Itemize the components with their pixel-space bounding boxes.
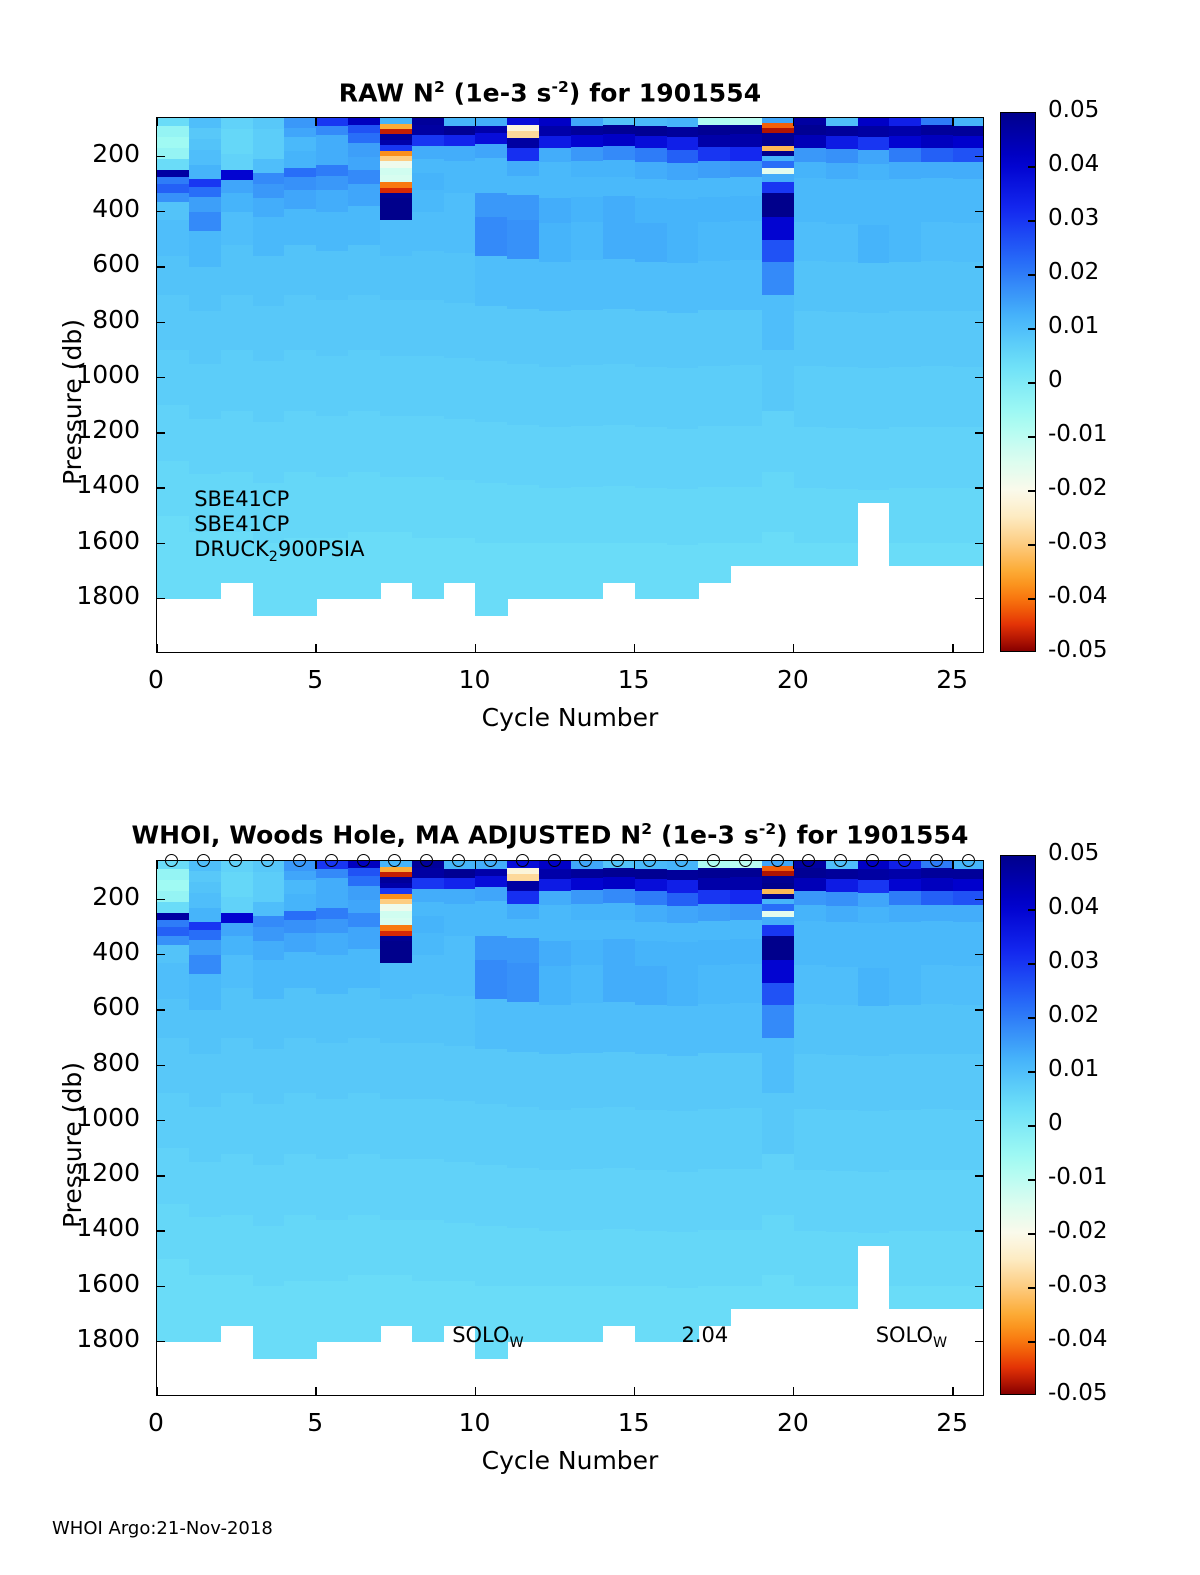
x-tick-label: 10	[435, 665, 515, 694]
heatmap-cell	[253, 143, 285, 160]
heatmap-cell	[730, 964, 762, 1003]
heatmap-cell	[826, 1055, 858, 1111]
heatmap-cell	[507, 148, 539, 161]
heatmap-cell	[826, 126, 858, 137]
heatmap-cell	[762, 532, 794, 566]
heatmap-cell	[253, 184, 285, 198]
heatmap-cell	[507, 891, 539, 904]
x-tick-mark	[315, 644, 317, 653]
heatmap-cell	[507, 176, 539, 196]
heatmap-cell	[316, 908, 348, 920]
heatmap-cell	[698, 197, 730, 222]
footer-text: WHOI Argo:21-Nov-2018	[52, 1518, 273, 1539]
heatmap-cell	[858, 313, 890, 369]
heatmap-cell	[762, 411, 794, 472]
x-tick-label: 10	[435, 1408, 515, 1437]
y-tick-mark	[156, 1120, 165, 1122]
heatmap-cell	[189, 1162, 221, 1218]
heatmap-cell	[284, 151, 316, 168]
cycle-marker	[643, 854, 656, 867]
heatmap-cell	[953, 1170, 984, 1231]
heatmap-cell	[762, 925, 794, 937]
heatmap-cell	[348, 913, 380, 927]
x-axis-label-raw: Cycle Number	[156, 703, 984, 732]
heatmap-cell	[539, 1005, 571, 1055]
plot-title-adjusted: WHOI, Woods Hole, MA ADJUSTED N2 (1e-3 s…	[0, 820, 1100, 849]
heatmap-cell	[953, 1005, 984, 1055]
heatmap-cell	[348, 900, 380, 914]
heatmap-cell	[157, 880, 189, 892]
x-tick-label: 5	[275, 665, 355, 694]
heatmap-cell	[221, 1215, 253, 1276]
heatmap-cell	[794, 905, 826, 922]
y-tick-mark	[156, 487, 165, 489]
heatmap-cell	[444, 480, 476, 539]
x-tick-label: 20	[753, 1408, 833, 1437]
heatmap-cell	[730, 196, 762, 221]
heatmap-cell	[667, 906, 699, 923]
heatmap-cell	[826, 1232, 858, 1287]
heatmap-cell	[794, 965, 826, 1004]
heatmap-cell	[571, 965, 603, 1004]
heatmap-cell	[635, 198, 667, 223]
heatmap-cell	[858, 137, 890, 151]
heatmap-cell	[635, 1170, 667, 1231]
heatmap-cell	[762, 1038, 794, 1094]
heatmap-cell	[380, 256, 412, 301]
colorbar-tick-mark	[1028, 220, 1036, 222]
heatmap-cell	[698, 921, 730, 941]
colorbar-tick-label: -0.05	[1048, 1380, 1108, 1406]
heatmap-cell	[603, 877, 635, 890]
heatmap-cell	[221, 245, 253, 295]
heatmap-cell	[826, 1286, 858, 1309]
heatmap-cell	[539, 1231, 571, 1287]
heatmap-cell	[794, 878, 826, 891]
heatmap-cell	[889, 223, 921, 262]
heatmap-cell	[221, 897, 253, 914]
x-tick-mark	[156, 860, 158, 869]
heatmap-cell	[316, 416, 348, 477]
heatmap-cell	[316, 300, 348, 356]
heatmap-cell	[316, 356, 348, 417]
heatmap-cell	[221, 923, 253, 936]
heatmap-cell	[826, 179, 858, 199]
heatmap-cell	[444, 253, 476, 303]
heatmap-cell	[603, 1002, 635, 1052]
heatmap-cell	[316, 1281, 348, 1342]
colorbar-tick-mark	[1028, 1233, 1036, 1235]
heatmap-cell	[635, 905, 667, 922]
y-axis-label-adjusted: Pressure (db)	[58, 1062, 87, 1228]
colorbar-tick-mark	[1028, 1017, 1036, 1019]
heatmap-cell	[667, 163, 699, 180]
heatmap-cell	[253, 886, 285, 903]
heatmap-cell	[826, 869, 858, 880]
colorbar-tick-mark	[1028, 1287, 1036, 1289]
heatmap-cell	[189, 231, 221, 268]
heatmap-cell	[157, 256, 189, 295]
heatmap-cell	[380, 477, 412, 533]
heatmap-cell	[635, 136, 667, 149]
heatmap-cell	[921, 891, 953, 905]
heatmap-cell	[189, 908, 221, 922]
y-axis-label-raw: Pressure (db)	[58, 319, 87, 485]
heatmap-cell	[316, 212, 348, 251]
heatmap-cell	[858, 429, 890, 490]
heatmap-cell	[507, 543, 539, 599]
heatmap-cell	[794, 1004, 826, 1054]
plot-annotation: SBE41CP	[194, 487, 289, 511]
y-tick-mark	[975, 954, 984, 956]
heatmap-cell	[157, 891, 189, 903]
heatmap-cell	[475, 999, 507, 1049]
heatmap-cell	[539, 1110, 571, 1171]
heatmap-cell	[667, 199, 699, 224]
heatmap-cell	[698, 1230, 730, 1287]
x-tick-mark	[952, 1387, 954, 1396]
heatmap-cell	[667, 150, 699, 164]
heatmap-cell	[348, 886, 380, 900]
x-tick-mark	[156, 644, 158, 653]
heatmap-cell	[571, 1169, 603, 1230]
heatmap-cell	[316, 176, 348, 190]
heatmap-cell	[539, 1286, 571, 1342]
heatmap-cell	[475, 1104, 507, 1165]
heatmap-cell	[921, 921, 953, 941]
heatmap-cell	[284, 177, 316, 190]
heatmap-cell	[603, 134, 635, 147]
y-tick-mark	[156, 266, 165, 268]
heatmap-cell	[794, 1286, 826, 1309]
heatmap-cell	[284, 137, 316, 151]
heatmap-cell	[635, 162, 667, 179]
heatmap-cell	[603, 920, 635, 940]
heatmap-cell	[858, 368, 890, 429]
heatmap-cell	[348, 1215, 380, 1276]
heatmap-cell	[667, 545, 699, 600]
heatmap-cell	[826, 224, 858, 263]
heatmap-cell	[698, 1053, 730, 1109]
heatmap-cell	[858, 126, 890, 137]
heatmap-cell	[444, 135, 476, 147]
heatmap-cell	[826, 312, 858, 368]
heatmap-cell	[889, 966, 921, 1005]
heatmap-cell	[444, 936, 476, 959]
heatmap-cell	[348, 949, 380, 988]
heatmap-cell	[571, 1053, 603, 1109]
heatmap-cell	[571, 177, 603, 197]
heatmap-cell	[253, 422, 285, 483]
heatmap-cell	[475, 193, 507, 218]
plot-annotation: 2.04	[682, 1323, 729, 1347]
heatmap-cell	[603, 196, 635, 221]
heatmap-cell	[858, 880, 890, 894]
heatmap-cell	[603, 903, 635, 920]
heatmap-cell	[412, 416, 444, 477]
heatmap-cell	[253, 872, 285, 886]
heatmap-cell	[889, 879, 921, 892]
heatmap-cell	[921, 162, 953, 179]
x-tick-mark	[634, 644, 636, 653]
x-tick-mark	[634, 860, 636, 869]
heatmap-cell	[730, 543, 762, 566]
heatmap-cell	[921, 965, 953, 1004]
cycle-marker	[739, 854, 752, 867]
colorbar-tick-label: -0.04	[1048, 1326, 1108, 1352]
y-tick-mark	[156, 432, 165, 434]
heatmap-cell	[380, 999, 412, 1044]
heatmap-cell	[730, 1108, 762, 1169]
y-tick-label: 200	[0, 139, 140, 168]
heatmap-cell	[794, 125, 826, 136]
heatmap-cell	[953, 966, 984, 1005]
heatmap-cell	[316, 878, 348, 892]
heatmap-cell	[667, 1172, 699, 1233]
heatmap-cell	[284, 190, 316, 210]
heatmap-cell	[316, 955, 348, 994]
heatmap-cell	[571, 1108, 603, 1169]
heatmap-cell	[858, 225, 890, 264]
heatmap-canvas-adjusted	[157, 861, 983, 1395]
heatmap-cell	[412, 878, 444, 890]
heatmap-cell	[571, 1230, 603, 1287]
heatmap-cell	[889, 905, 921, 922]
colorbar-tick-label: 0	[1048, 1110, 1063, 1136]
y-tick-mark	[975, 1120, 984, 1122]
heatmap-cell	[412, 190, 444, 213]
heatmap-cell	[284, 933, 316, 953]
heatmap-cell	[221, 883, 253, 897]
heatmap-cell	[794, 921, 826, 941]
heatmap-cell	[380, 1159, 412, 1220]
heatmap-cell	[507, 881, 539, 892]
heatmap-cell	[826, 892, 858, 906]
heatmap-cell	[189, 419, 221, 475]
heatmap-cell	[189, 150, 221, 166]
heatmap-cell	[475, 361, 507, 422]
heatmap-cell	[698, 904, 730, 921]
y-tick-mark	[156, 1175, 165, 1177]
cycle-marker	[229, 854, 242, 867]
heatmap-cell	[762, 1005, 794, 1039]
heatmap-cell	[221, 295, 253, 351]
heatmap-cell	[539, 941, 571, 966]
heatmap-cell	[698, 426, 730, 487]
heatmap-cell	[889, 148, 921, 162]
heatmap-cell	[921, 427, 953, 488]
heatmap-cell	[189, 1217, 221, 1276]
heatmap-cell	[253, 1226, 285, 1287]
heatmap-cell	[380, 300, 412, 356]
heatmap-cell	[635, 223, 667, 262]
heatmap-cell	[889, 311, 921, 367]
heatmap-cell	[221, 129, 253, 141]
heatmap-cell	[284, 1281, 316, 1359]
heatmap-cell	[730, 177, 762, 197]
colorbar-tick-mark	[1028, 909, 1036, 911]
heatmap-cell	[953, 162, 984, 179]
y-tick-mark	[975, 1286, 984, 1288]
heatmap-cell	[189, 893, 221, 909]
colorbar-tick-label: -0.01	[1048, 1164, 1108, 1190]
heatmap-cell	[253, 198, 285, 218]
cycle-marker	[611, 854, 624, 867]
heatmap-cell	[284, 920, 316, 933]
heatmap-cell	[826, 136, 858, 149]
heatmap-cell	[571, 904, 603, 921]
colorbar-tick-label: 0	[1048, 367, 1063, 393]
heatmap-cell	[921, 125, 953, 136]
heatmap-cell	[444, 358, 476, 419]
heatmap-cell	[412, 1281, 444, 1342]
heatmap-cell	[221, 1275, 253, 1325]
heatmap-cell	[858, 943, 890, 968]
y-tick-mark	[156, 899, 165, 901]
heatmap-cell	[253, 217, 285, 256]
heatmap-cell	[571, 1003, 603, 1053]
cycle-marker	[357, 854, 370, 867]
heatmap-cell	[889, 262, 921, 312]
heatmap-cell	[794, 311, 826, 367]
y-tick-mark	[156, 598, 165, 600]
heatmap-cell	[444, 1162, 476, 1223]
heatmap-cell	[507, 364, 539, 425]
heatmap-cell	[667, 967, 699, 1006]
heatmap-cell	[253, 916, 285, 928]
x-tick-label: 15	[594, 665, 674, 694]
heatmap-cell	[889, 427, 921, 488]
heatmap-cell	[475, 158, 507, 174]
heatmap-cell	[444, 161, 476, 177]
heatmap-cell	[253, 1165, 285, 1226]
heatmap-cell	[253, 361, 285, 422]
heatmap-cell	[221, 1093, 253, 1154]
heatmap-cell	[571, 487, 603, 544]
heatmap-cell	[858, 1172, 890, 1233]
heatmap-cell	[698, 940, 730, 965]
heatmap-cell	[571, 920, 603, 940]
heatmap-cell	[348, 206, 380, 245]
y-tick-label: 1600	[0, 1269, 140, 1298]
cycle-marker	[675, 854, 688, 867]
heatmap-cell	[794, 198, 826, 223]
heatmap-cell	[698, 222, 730, 261]
heatmap-cell	[412, 212, 444, 251]
heatmap-cell	[412, 159, 444, 173]
heatmap-cell	[667, 224, 699, 263]
colorbar-tick-mark	[1028, 436, 1036, 438]
heatmap-cell	[412, 1043, 444, 1099]
heatmap-cell	[444, 919, 476, 936]
heatmap-cell	[316, 1220, 348, 1281]
heatmap-cell	[603, 1229, 635, 1287]
heatmap-cell	[221, 118, 253, 130]
y-tick-mark	[156, 1230, 165, 1232]
cycle-marker	[452, 854, 465, 867]
colorbar-tick-mark	[1028, 598, 1036, 600]
heatmap-cell	[316, 148, 348, 165]
heatmap-cell	[412, 889, 444, 903]
y-tick-mark	[156, 954, 165, 956]
heatmap-cell	[858, 1056, 890, 1112]
heatmap-cell	[794, 543, 826, 566]
x-tick-mark	[315, 117, 317, 126]
heatmap-cell	[603, 1107, 635, 1168]
heatmap-cell	[380, 220, 412, 257]
heatmap-cell	[826, 489, 858, 544]
heatmap-cell	[730, 1003, 762, 1053]
heatmap-cell	[858, 1111, 890, 1172]
heatmap-cell	[189, 1054, 221, 1107]
heatmap-cell	[475, 256, 507, 306]
colorbar-tick-mark	[1028, 382, 1036, 384]
heatmap-cell	[539, 179, 571, 199]
heatmap-cell	[253, 173, 285, 185]
heatmap-cell	[667, 127, 699, 138]
heatmap-cell	[253, 1286, 285, 1358]
heatmap-cell	[794, 366, 826, 427]
heatmap-cell	[667, 870, 699, 881]
heatmap-cell	[507, 919, 539, 939]
colorbar-tick-label: -0.05	[1048, 637, 1108, 663]
heatmap-cell	[316, 1043, 348, 1099]
heatmap-cell	[284, 350, 316, 411]
colorbar-tick-label: -0.03	[1048, 529, 1108, 555]
heatmap-cell	[412, 477, 444, 538]
heatmap-cell	[667, 1232, 699, 1288]
y-tick-mark	[156, 211, 165, 213]
heatmap-cell	[698, 161, 730, 178]
heatmap-cell	[348, 1038, 380, 1094]
heatmap-cell	[603, 486, 635, 544]
heatmap-cell	[953, 262, 984, 312]
heatmap-cell	[539, 922, 571, 942]
heatmap-cell	[412, 251, 444, 301]
heatmap-cell	[794, 941, 826, 966]
heatmap-cell	[539, 262, 571, 312]
heatmap-cell	[953, 488, 984, 544]
heatmap-cell	[348, 1093, 380, 1154]
heatmap-cell	[698, 261, 730, 311]
heatmap-cell	[667, 942, 699, 967]
heatmap-cell	[475, 144, 507, 158]
heatmap-cell	[539, 488, 571, 544]
x-tick-mark	[315, 1387, 317, 1396]
heatmap-cell	[444, 146, 476, 162]
heatmap-cell	[667, 893, 699, 907]
heatmap-cell	[221, 872, 253, 884]
heatmap-cell	[635, 1231, 667, 1287]
heatmap-cell	[284, 411, 316, 472]
heatmap-cell	[507, 425, 539, 486]
heatmap-cell	[698, 1004, 730, 1054]
heatmap-cell	[603, 939, 635, 964]
heatmap-cell	[571, 940, 603, 965]
heatmap-cell	[889, 179, 921, 199]
heatmap-cell	[635, 941, 667, 966]
heatmap-canvas-raw	[157, 118, 983, 652]
heatmap-cell	[921, 878, 953, 891]
x-tick-mark	[475, 860, 477, 869]
heatmap-cell	[762, 217, 794, 240]
heatmap-cell	[348, 184, 380, 207]
heatmap-cell	[444, 878, 476, 890]
heatmap-cell	[475, 1226, 507, 1287]
heatmap-cell	[794, 427, 826, 488]
heatmap-cell	[603, 543, 635, 582]
heatmap-cell	[284, 880, 316, 894]
